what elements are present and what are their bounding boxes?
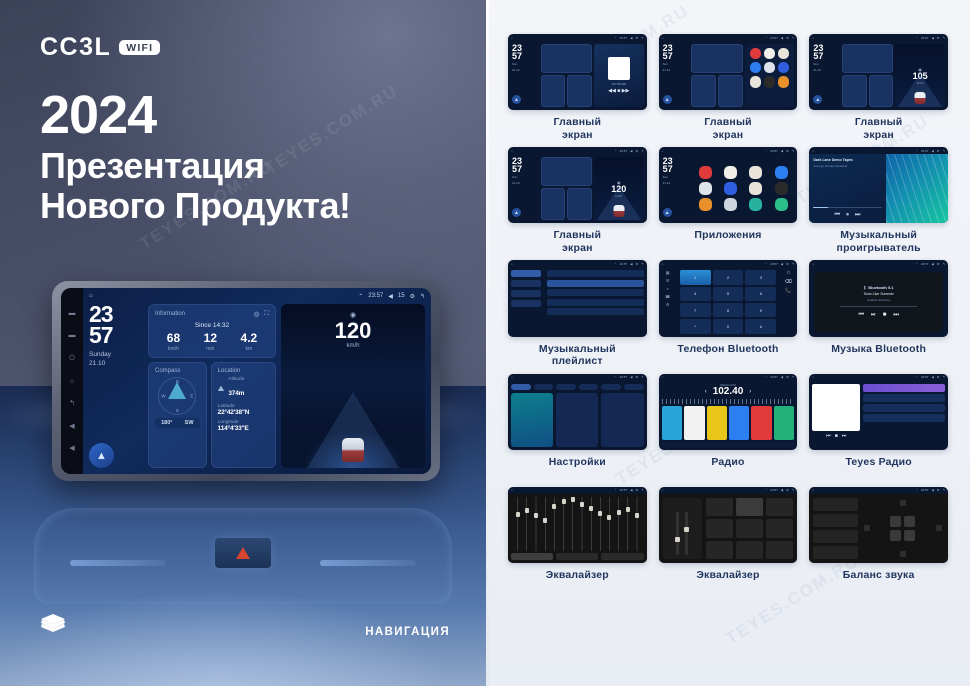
wifi-icon: ⌃ bbox=[614, 36, 617, 40]
screenshot-thumbnail[interactable]: ⌂ ⌃ 23:57 ◀ ⚙ ↰ Maxxim FM ‹ 102.40 › bbox=[659, 374, 798, 450]
station-presets[interactable] bbox=[662, 406, 795, 440]
gear-icon: ⚙ bbox=[635, 36, 638, 40]
back-icon[interactable]: ↰ bbox=[69, 400, 75, 407]
settings-tab[interactable] bbox=[624, 384, 644, 390]
thumb-time: 23:57 bbox=[921, 149, 929, 153]
caption-line-1: Музыка Bluetooth bbox=[831, 343, 926, 355]
clock-minutes: 57 bbox=[508, 52, 539, 60]
thumb-status-bar: ⌂ ⌃ 23:57 ◀ ⚙ ↰ bbox=[809, 260, 948, 267]
road-graphic bbox=[281, 390, 425, 468]
gallery-cell: ⌂ ⌃ 23:57 ◀ ⚙ ↰ 23 57 Sun 21.10 ▲ Прилож… bbox=[659, 147, 798, 254]
eq-band[interactable] bbox=[633, 497, 640, 551]
thumb-time: 23:57 bbox=[770, 36, 778, 40]
thumb-time: 23:57 bbox=[620, 149, 628, 153]
navigation-arrow-icon[interactable]: ▲ bbox=[663, 95, 672, 104]
screenshot-thumbnail[interactable]: ⌂ ⌃ 23:57 ◀ ⚙ ↰ bbox=[809, 487, 948, 563]
progress-bar[interactable] bbox=[813, 207, 881, 209]
eq-band[interactable] bbox=[514, 497, 521, 551]
clock-widget[interactable]: 23 57 Sun 21.10 ▲ bbox=[508, 41, 539, 110]
volume-icon: ◀ bbox=[781, 262, 783, 266]
balance-field[interactable] bbox=[813, 546, 857, 559]
app-icon[interactable] bbox=[775, 198, 788, 211]
thumbnail-caption: Телефон Bluetooth bbox=[677, 343, 778, 368]
wifi-icon: ⌃ bbox=[915, 488, 918, 492]
headline-line-2: Нового Продукта! bbox=[40, 186, 351, 226]
car-graphic bbox=[342, 438, 364, 462]
app-icon[interactable] bbox=[724, 198, 737, 211]
screenshot-thumbnail[interactable]: ⌂ ⌃ 23:57 ◀ ⚙ ↰ Dark Lane Demo Tapes Gru… bbox=[809, 147, 948, 223]
clock-widget[interactable]: 23 57 Sun 21.10 ▲ bbox=[809, 41, 840, 110]
eq-preset-button[interactable] bbox=[511, 553, 553, 560]
preset-grid[interactable] bbox=[706, 498, 793, 559]
stat-value: 12 bbox=[204, 332, 217, 344]
list-item[interactable] bbox=[511, 300, 541, 307]
wifi-icon: ⌃ bbox=[614, 149, 617, 153]
thumb-time: 23:57 bbox=[620, 262, 628, 266]
eq-preset-button[interactable] bbox=[601, 553, 643, 560]
widgets-column: Information ◎ ⛶ Since 14:32 68 bbox=[148, 304, 276, 468]
preset-button[interactable] bbox=[736, 541, 763, 559]
clock-widget[interactable]: 23 57 Sun 21.10 ▲ bbox=[659, 41, 690, 110]
favorite-icon[interactable]: ☆ bbox=[786, 270, 790, 276]
phone-nav[interactable]: ▦ ☰ ⌕ ☎ ⚙ bbox=[659, 267, 677, 336]
compass-needle-icon bbox=[168, 382, 186, 399]
screenshot-thumbnail[interactable]: ⌂ ⌃ 23:57 ◀ ⚙ ↰ ▦ ☰ ⌕ ☎ ⚙ 123456789*0# ☆… bbox=[659, 260, 798, 336]
screenshot-thumbnail[interactable]: ⌂ ⌃ 23:57 ◀ ⚙ ↰ 23 57 Sun 21.10 ▲ ◉ 120 … bbox=[508, 147, 647, 223]
refresh-icon[interactable]: ◎ bbox=[254, 310, 260, 318]
station-preset[interactable] bbox=[751, 406, 771, 440]
back-icon: ↰ bbox=[792, 36, 795, 40]
wifi-icon: ⌃ bbox=[765, 36, 768, 40]
next-station-icon[interactable]: › bbox=[749, 389, 751, 395]
compass-card[interactable] bbox=[691, 75, 716, 107]
information-card[interactable] bbox=[842, 44, 893, 73]
track-artist: Grumpy Grudes Scotland bbox=[813, 164, 881, 168]
carplay-tile[interactable] bbox=[556, 393, 598, 447]
music-info: Dark Lane Demo Tapes Grumpy Grudes Scotl… bbox=[809, 154, 885, 223]
preset-button[interactable] bbox=[706, 519, 733, 537]
wifi-icon: ⌃ bbox=[614, 488, 617, 492]
app-icon[interactable] bbox=[749, 166, 762, 179]
wifi-icon: ⌃ bbox=[915, 375, 918, 379]
volume-icon: ◀ bbox=[630, 36, 632, 40]
radio-toolbar[interactable] bbox=[662, 442, 795, 448]
hud-widget[interactable]: ◉ 105 km/h bbox=[895, 44, 945, 107]
balance-left-icon[interactable] bbox=[864, 525, 870, 531]
balance-field[interactable] bbox=[813, 514, 857, 527]
mountain-icon: ⛰ bbox=[218, 384, 225, 394]
thumbnail-caption: Музыкальный плейлист bbox=[539, 343, 616, 368]
progress-bar[interactable] bbox=[840, 306, 917, 307]
back-icon: ↰ bbox=[641, 36, 644, 40]
clock-date: 21.10 bbox=[508, 181, 539, 185]
gear-icon[interactable]: ⚙ bbox=[410, 293, 415, 300]
media-controls[interactable]: ⏮ ■ ⏭ bbox=[812, 433, 860, 439]
stat-unit: km bbox=[241, 346, 258, 352]
list-item[interactable] bbox=[547, 270, 644, 277]
prev-icon[interactable]: ⏮ bbox=[859, 312, 864, 319]
preset-button[interactable] bbox=[736, 498, 763, 516]
list-item[interactable] bbox=[511, 270, 541, 277]
gallery-cell: ⌂ ⌃ 23:57 ◀ ⚙ ↰ 23 57 Sun 21.10 ▲ ◉ 120 … bbox=[508, 147, 647, 254]
hardware-button-rail: ▬ ▬ ⏻ ⌂ ↰ ◀ ◀ bbox=[61, 288, 83, 474]
wifi-badge: WIFI bbox=[119, 40, 160, 56]
search-icon[interactable]: ⌕ bbox=[667, 286, 669, 291]
volume-level: 15 bbox=[398, 293, 405, 299]
preset-button[interactable] bbox=[706, 498, 733, 516]
dial-pad[interactable]: 123456789*0# bbox=[677, 267, 780, 336]
station-preset[interactable] bbox=[774, 406, 794, 440]
balance-field[interactable] bbox=[813, 530, 857, 543]
head-unit-bezel: ▬ ▬ ⏻ ⌂ ↰ ◀ ◀ ⌂ ⌃ 23:57 ◀ 15 bbox=[52, 281, 440, 481]
app-icon[interactable] bbox=[778, 48, 789, 59]
app-icon[interactable] bbox=[778, 76, 789, 87]
call-icon[interactable]: 📞 bbox=[785, 288, 791, 294]
hud-speed: 120 bbox=[335, 320, 372, 342]
pause-icon[interactable]: ⏸ bbox=[846, 212, 849, 219]
dial-key[interactable]: 2 bbox=[713, 270, 744, 284]
vol-up-icon[interactable]: ▬ bbox=[69, 332, 76, 339]
media-controls[interactable]: ◀◀ ■ ▶▶ bbox=[608, 88, 629, 94]
volume-icon: ◀ bbox=[630, 488, 632, 492]
list-item[interactable] bbox=[863, 384, 945, 392]
gallery-panel: TEYES.COM.RU TEYES.COM.RU TEYES.COM.RU T… bbox=[486, 0, 970, 686]
screenshot-thumbnail[interactable]: ⌂ ⌃ 23:57 ◀ ⚙ ↰ 23 57 Sun 21.10 ▲ 107.50… bbox=[508, 34, 647, 110]
list-item[interactable] bbox=[547, 280, 644, 287]
information-card[interactable]: Information ◎ ⛶ Since 14:32 68 bbox=[148, 304, 276, 358]
settings-tab[interactable] bbox=[601, 384, 621, 390]
dialpad-icon[interactable]: ▦ bbox=[666, 270, 670, 275]
dial-key[interactable]: * bbox=[680, 319, 711, 333]
settings-icon[interactable]: ⚙ bbox=[666, 302, 670, 307]
location-card[interactable] bbox=[869, 75, 894, 107]
eq-band[interactable] bbox=[597, 497, 604, 551]
track-artist: Coldest Sunshine bbox=[867, 298, 891, 302]
wifi-icon: ⌃ bbox=[765, 262, 768, 266]
clock-date: 21.10 bbox=[508, 68, 539, 72]
clock-widget[interactable]: 23 57 Sun 21.10 ▲ bbox=[508, 154, 539, 223]
dial-key[interactable]: 1 bbox=[680, 270, 711, 284]
balance-up-icon[interactable] bbox=[900, 500, 906, 506]
eq-band[interactable] bbox=[606, 497, 613, 551]
settings-tab[interactable] bbox=[556, 384, 576, 390]
app-icon[interactable] bbox=[724, 166, 737, 179]
app-icon[interactable] bbox=[699, 182, 712, 195]
thumb-time: 23:57 bbox=[770, 488, 778, 492]
home-icon[interactable]: ⌂ bbox=[70, 378, 74, 385]
list-item[interactable] bbox=[863, 414, 945, 422]
phone-actions[interactable]: ☆ ⌫ 📞 bbox=[779, 267, 797, 336]
screenshot-thumbnail[interactable]: ⌂ ⌃ 23:57 ◀ ⚙ ↰ ⏮ ■ ⏭ bbox=[809, 374, 948, 450]
next-icon[interactable]: ⏭ bbox=[842, 433, 847, 439]
layers-icon[interactable] bbox=[40, 613, 66, 638]
screenshot-thumbnail[interactable]: ⌂ ⌃ 23:57 ◀ ⚙ ↰ 23 57 Sun 21.10 ▲ bbox=[659, 147, 798, 223]
wifi-tile[interactable] bbox=[511, 393, 553, 447]
application-grid[interactable] bbox=[689, 154, 797, 223]
bluetooth-label: Bluetooth 5.1 bbox=[868, 285, 893, 290]
preset-button[interactable] bbox=[766, 519, 793, 537]
wifi-icon: ⌃ bbox=[614, 262, 617, 266]
app-icon[interactable] bbox=[749, 182, 762, 195]
clock-day: Sun bbox=[809, 62, 840, 66]
location-card[interactable] bbox=[567, 75, 592, 107]
compass-card[interactable]: Compass N S W E 180° bbox=[148, 362, 207, 468]
location-card[interactable] bbox=[567, 188, 592, 220]
screenshot-thumbnail[interactable]: ⌂ ⌃ 23:57 ◀ ⚙ ↰ 23 57 Sun 21.10 ▲ bbox=[659, 34, 798, 110]
preset-button[interactable] bbox=[766, 498, 793, 516]
gallery-cell: ⌂ ⌃ 23:57 ◀ ⚙ ↰ Maxxim FM ‹ 102.40 › bbox=[659, 374, 798, 481]
thumbnail-caption: Музыкальный проигрыватель bbox=[837, 229, 921, 254]
stop-icon[interactable]: ■ bbox=[883, 312, 887, 319]
eq-band[interactable] bbox=[578, 497, 585, 551]
app-icon[interactable] bbox=[724, 182, 737, 195]
thumb-time: 23:57 bbox=[620, 375, 628, 379]
information-card[interactable] bbox=[691, 44, 742, 73]
wifi-icon: ⌃ bbox=[915, 262, 918, 266]
navigation-arrow-icon[interactable]: ▲ bbox=[813, 95, 822, 104]
gear-icon: ⚙ bbox=[937, 488, 940, 492]
location-card[interactable] bbox=[718, 75, 743, 107]
compass-card[interactable] bbox=[541, 75, 566, 107]
prev-icon[interactable]: ⏮ bbox=[826, 433, 831, 439]
thumb-status-bar: ⌂ ⌃ 23:57 ◀ ⚙ ↰ bbox=[659, 487, 798, 494]
hud-widget[interactable]: ◉ 120 km/h bbox=[594, 157, 644, 220]
car-graphic bbox=[915, 92, 926, 104]
playlist-categories[interactable] bbox=[508, 267, 544, 336]
car-graphic bbox=[613, 205, 624, 217]
home-icon[interactable]: ⌂ bbox=[89, 293, 93, 299]
compass-card[interactable] bbox=[541, 188, 566, 220]
balance-pad[interactable] bbox=[862, 498, 944, 559]
wifi-icon: ⌃ bbox=[765, 375, 768, 379]
song-list[interactable] bbox=[544, 267, 647, 336]
clock-day: Sun bbox=[659, 62, 690, 66]
tuning-scale[interactable] bbox=[662, 399, 795, 404]
gear-icon: ⚙ bbox=[635, 149, 638, 153]
app-icon[interactable] bbox=[699, 166, 712, 179]
clock-widget[interactable]: 23 57 Sun 21.10 ▲ bbox=[659, 154, 690, 223]
information-card[interactable] bbox=[541, 157, 592, 186]
dial-key[interactable]: 7 bbox=[680, 303, 711, 317]
app-icon[interactable] bbox=[775, 182, 788, 195]
home-icon: ⌂ bbox=[662, 375, 664, 379]
back-icon[interactable]: ↰ bbox=[420, 293, 425, 300]
list-item[interactable] bbox=[547, 308, 644, 315]
eq-band[interactable] bbox=[551, 497, 558, 551]
list-item[interactable] bbox=[547, 289, 644, 296]
media-widget[interactable]: 107.50 FM ◀◀ ■ ▶▶ bbox=[594, 44, 644, 107]
stop-icon[interactable]: ■ bbox=[835, 433, 838, 439]
gear-icon: ⚙ bbox=[635, 488, 638, 492]
dial-key[interactable]: 3 bbox=[745, 270, 776, 284]
volume-icon: ◀ bbox=[630, 375, 632, 379]
thumbnail-caption: Главный экран bbox=[554, 229, 602, 254]
screenshot-thumbnail[interactable]: ⌂ ⌃ 23:57 ◀ ⚙ ↰ bbox=[508, 260, 647, 336]
widgets-column bbox=[539, 41, 594, 110]
preset-button[interactable] bbox=[736, 519, 763, 537]
screenshot-thumbnail[interactable]: ⌂ ⌃ 23:57 ◀ ⚙ ↰ ᛒ Bluetooth 5.1 Toxic Li… bbox=[809, 260, 948, 336]
eq-preset-button[interactable] bbox=[556, 553, 598, 560]
back-icon: ↰ bbox=[942, 375, 945, 379]
balance-right-icon[interactable] bbox=[936, 525, 942, 531]
screenshot-thumbnail[interactable]: ⌂ ⌃ 23:57 ◀ ⚙ ↰ bbox=[508, 487, 647, 563]
app-icon[interactable] bbox=[699, 198, 712, 211]
next-icon[interactable]: ⏭ bbox=[893, 312, 898, 319]
thumbnail-caption: Настройки bbox=[549, 456, 606, 481]
more-tile[interactable] bbox=[601, 393, 643, 447]
app-icon[interactable] bbox=[749, 198, 762, 211]
hero-panel: TEYES.COM.RU TEYES.COM.RU TEYES.COM.RU C… bbox=[0, 0, 486, 686]
slider[interactable] bbox=[685, 512, 688, 555]
eq-band[interactable] bbox=[569, 497, 576, 551]
clock-day: Sun bbox=[508, 62, 539, 66]
power-icon[interactable]: ⏻ bbox=[69, 355, 75, 362]
thumb-status-bar: ⌂ ⌃ 23:57 ◀ ⚙ ↰ bbox=[659, 34, 798, 41]
gallery-cell: ⌂ ⌃ 23:57 ◀ ⚙ ↰ Эквалайзер bbox=[508, 487, 647, 594]
app-icon[interactable] bbox=[750, 48, 761, 59]
prev-station-icon[interactable]: ‹ bbox=[705, 389, 707, 395]
app-icon[interactable] bbox=[775, 166, 788, 179]
information-since: Since 14:32 bbox=[155, 322, 269, 329]
mute-icon[interactable]: ◀ bbox=[69, 423, 74, 430]
volume-icon[interactable]: ◀ bbox=[388, 293, 393, 300]
eq-band[interactable] bbox=[624, 497, 631, 551]
dial-key[interactable]: 6 bbox=[745, 287, 776, 301]
station-preset[interactable] bbox=[707, 406, 727, 440]
gear-icon: ⚙ bbox=[786, 149, 789, 153]
navigation-arrow-icon[interactable]: ▲ bbox=[89, 443, 114, 468]
music-controls[interactable]: ⏮ ⏸ ⏭ bbox=[813, 212, 881, 219]
prev-icon[interactable]: ⏮ bbox=[835, 212, 840, 219]
clock-widget[interactable]: 23 57 Sunday 21.10 ▲ bbox=[89, 304, 143, 468]
contacts-icon[interactable]: ☰ bbox=[666, 278, 670, 283]
station-preset[interactable] bbox=[662, 406, 682, 440]
wifi-icon: ⌃ bbox=[614, 375, 617, 379]
hazard-button[interactable] bbox=[215, 538, 271, 568]
list-item[interactable] bbox=[863, 404, 945, 412]
dial-key[interactable]: 4 bbox=[680, 287, 711, 301]
station-preset[interactable] bbox=[729, 406, 749, 440]
play-pause-icon[interactable]: ⏯ bbox=[871, 312, 876, 319]
gear-icon: ⚙ bbox=[786, 488, 789, 492]
clock-date: 21.10 bbox=[659, 181, 690, 185]
eq-band[interactable] bbox=[588, 497, 595, 551]
thumbnail-caption: Главный экран bbox=[855, 116, 903, 141]
dial-key[interactable]: # bbox=[745, 319, 776, 333]
navigation-label: НАВИГАЦИЯ bbox=[365, 626, 450, 638]
wifi-icon: ⌃ bbox=[915, 149, 918, 153]
calls-icon[interactable]: ☎ bbox=[665, 294, 670, 299]
preset-button[interactable] bbox=[706, 541, 733, 559]
eq-band[interactable] bbox=[560, 497, 567, 551]
settings-tab[interactable] bbox=[579, 384, 599, 390]
thumb-status-bar: ⌂ ⌃ 23:57 ◀ ⚙ ↰ bbox=[659, 260, 798, 267]
compass-card[interactable] bbox=[842, 75, 867, 107]
list-item[interactable] bbox=[511, 290, 541, 297]
product-logo: CC3L WIFI bbox=[40, 33, 160, 62]
list-item[interactable] bbox=[547, 299, 644, 306]
navigation-arrow-icon[interactable]: ▲ bbox=[512, 208, 521, 217]
backspace-icon[interactable]: ⌫ bbox=[785, 279, 792, 285]
equalizer-simple-screen bbox=[659, 494, 798, 563]
list-item[interactable] bbox=[511, 280, 541, 287]
status-time: 23:57 bbox=[368, 293, 383, 299]
radio-frequency: 102.40 bbox=[713, 387, 744, 397]
dial-key[interactable]: 9 bbox=[745, 303, 776, 317]
dial-key[interactable]: 0 bbox=[713, 319, 744, 333]
eq-band-sliders[interactable] bbox=[511, 497, 644, 553]
clock-minutes: 57 bbox=[89, 325, 143, 346]
caption-line-1: Эквалайзер bbox=[546, 569, 609, 581]
settings-tab[interactable] bbox=[534, 384, 554, 390]
screenshot-thumbnail[interactable]: ⌂ ⌃ 23:57 ◀ ⚙ ↰ bbox=[659, 487, 798, 563]
app-icon[interactable] bbox=[750, 62, 761, 73]
balance-down-icon[interactable] bbox=[900, 551, 906, 557]
app-icon[interactable] bbox=[750, 76, 761, 87]
screenshot-grid: ⌂ ⌃ 23:57 ◀ ⚙ ↰ 23 57 Sun 21.10 ▲ 107.50… bbox=[508, 34, 948, 594]
eq-band[interactable] bbox=[523, 497, 530, 551]
app-drawer-widget[interactable] bbox=[745, 44, 795, 107]
settings-tab[interactable] bbox=[511, 384, 531, 390]
vol-down-icon[interactable]: ▬ bbox=[69, 310, 76, 317]
stat-value: 68 bbox=[167, 332, 180, 344]
dial-key[interactable]: 8 bbox=[713, 303, 744, 317]
level-sliders[interactable] bbox=[663, 498, 702, 559]
headline-line-1: Презентация bbox=[40, 146, 351, 186]
app-icon[interactable] bbox=[764, 76, 775, 87]
mic-icon[interactable]: ◀ bbox=[69, 445, 74, 452]
navigation-arrow-icon[interactable]: ▲ bbox=[663, 208, 672, 217]
navigation-arrow-icon[interactable]: ▲ bbox=[512, 95, 521, 104]
next-icon[interactable]: ⏭ bbox=[855, 212, 860, 219]
hud-widget[interactable]: ◉ 120 km/h bbox=[281, 304, 425, 468]
thumbnail-caption: Баланс звука bbox=[843, 569, 915, 594]
expand-icon[interactable]: ⛶ bbox=[264, 310, 269, 318]
back-icon: ↰ bbox=[641, 262, 644, 266]
app-icon[interactable] bbox=[764, 48, 775, 59]
list-item[interactable] bbox=[863, 394, 945, 402]
caption-line-2: проигрыватель bbox=[837, 242, 921, 254]
app-icon[interactable] bbox=[764, 62, 775, 73]
headline-year: 2024 bbox=[40, 88, 351, 142]
screenshot-thumbnail[interactable]: ⌂ ⌃ 23:57 ◀ ⚙ ↰ 23 57 Sun 21.10 ▲ ◉ 105 … bbox=[809, 34, 948, 110]
information-card[interactable] bbox=[541, 44, 592, 73]
home-icon: ⌂ bbox=[662, 36, 664, 40]
screenshot-thumbnail[interactable]: ⌂ ⌃ 23:57 ◀ ⚙ ↰ bbox=[508, 374, 647, 450]
eq-band[interactable] bbox=[542, 497, 549, 551]
app-icon[interactable] bbox=[778, 62, 789, 73]
balance-field[interactable] bbox=[813, 498, 857, 511]
volume-icon: ◀ bbox=[781, 375, 783, 379]
location-card[interactable]: Location ⛰ Altitude 374m bbox=[211, 362, 276, 468]
eq-band[interactable] bbox=[532, 497, 539, 551]
gear-icon: ⚙ bbox=[786, 36, 789, 40]
dial-key[interactable]: 5 bbox=[713, 287, 744, 301]
preset-button[interactable] bbox=[766, 541, 793, 559]
station-preset[interactable] bbox=[684, 406, 704, 440]
thumbnail-caption: Эквалайзер bbox=[546, 569, 609, 594]
back-icon: ↰ bbox=[942, 262, 945, 266]
balance-screen bbox=[809, 494, 948, 563]
caption-line-1: Телефон Bluetooth bbox=[677, 343, 778, 355]
gear-icon: ⚙ bbox=[937, 149, 940, 153]
caption-line-1: Радио bbox=[711, 456, 744, 468]
music-controls[interactable]: ⏮ ⏯ ■ ⏭ bbox=[859, 312, 899, 319]
eq-band[interactable] bbox=[615, 497, 622, 551]
thumb-status-bar: ⌂ ⌃ 23:57 ◀ ⚙ ↰ bbox=[809, 487, 948, 494]
slider[interactable] bbox=[676, 512, 679, 555]
clock-date: 21.10 bbox=[809, 68, 840, 72]
